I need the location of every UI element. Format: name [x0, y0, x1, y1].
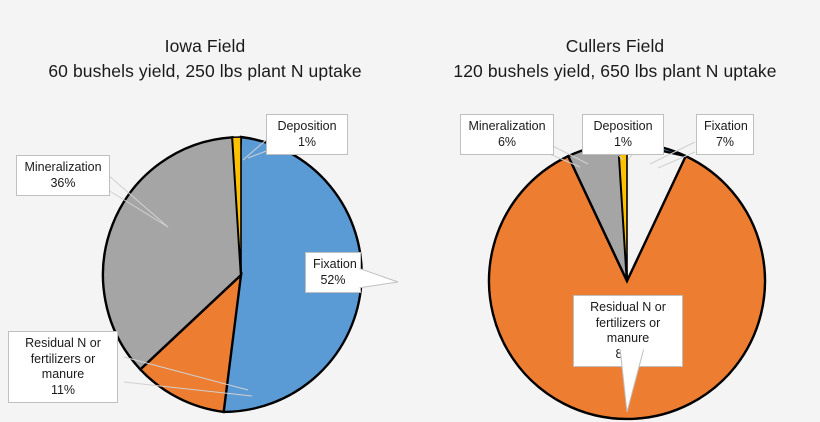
callout-tail-fixation-iowa: [358, 268, 400, 294]
callout-label-name-line2: fertilizers or: [581, 316, 675, 332]
callout-residual-iowa[interactable]: Residual N or fertilizers or manure 11%: [8, 331, 118, 403]
callout-mineralization-cullers[interactable]: Mineralization 6%: [460, 114, 554, 155]
callout-label-name: Fixation: [704, 119, 746, 135]
callout-label-name-line2: fertilizers or: [16, 352, 110, 368]
callout-label-pct: 7%: [704, 135, 746, 151]
callout-label-pct: 1%: [274, 135, 340, 151]
chart-panel-iowa-field: Iowa Field 60 bushels yield, 250 lbs pla…: [0, 0, 410, 419]
callout-fixation-iowa[interactable]: Fixation 52%: [305, 252, 361, 293]
callout-label-name: Mineralization: [468, 119, 546, 135]
callout-deposition-iowa[interactable]: Deposition 1%: [266, 114, 348, 155]
callout-label-name-line3: manure: [581, 331, 675, 347]
callout-label-name: Fixation: [313, 257, 353, 273]
leader-residual-2: [124, 382, 252, 396]
callout-label-pct: 1%: [590, 135, 656, 151]
callout-label-pct: 36%: [24, 176, 102, 192]
callout-label-pct: 52%: [313, 273, 353, 289]
callout-fixation-cullers[interactable]: Fixation 7%: [696, 114, 754, 155]
callout-tail-residual-cullers: [610, 348, 658, 416]
callout-label-name: Deposition: [274, 119, 340, 135]
leader-mineralization: [108, 175, 168, 227]
leader-deposition: [243, 140, 266, 160]
callout-label-pct: 6%: [468, 135, 546, 151]
callout-label-name: Deposition: [590, 119, 656, 135]
slide-canvas: Iowa Field 60 bushels yield, 250 lbs pla…: [0, 0, 820, 419]
callout-mineralization-iowa[interactable]: Mineralization 36%: [16, 155, 110, 196]
callout-label-name-line1: Residual N or: [16, 336, 110, 352]
callout-label-name: Mineralization: [24, 160, 102, 176]
chart-panel-cullers-field: Cullers Field 120 bushels yield, 650 lbs…: [410, 0, 820, 419]
callout-label-name-line1: Residual N or: [581, 300, 675, 316]
callout-label-pct: 11%: [16, 383, 110, 399]
leader-residual: [124, 357, 248, 390]
callout-label-name-line3: manure: [16, 367, 110, 383]
callout-deposition-cullers[interactable]: Deposition 1%: [582, 114, 664, 155]
leader-mineralization-2: [108, 190, 168, 227]
